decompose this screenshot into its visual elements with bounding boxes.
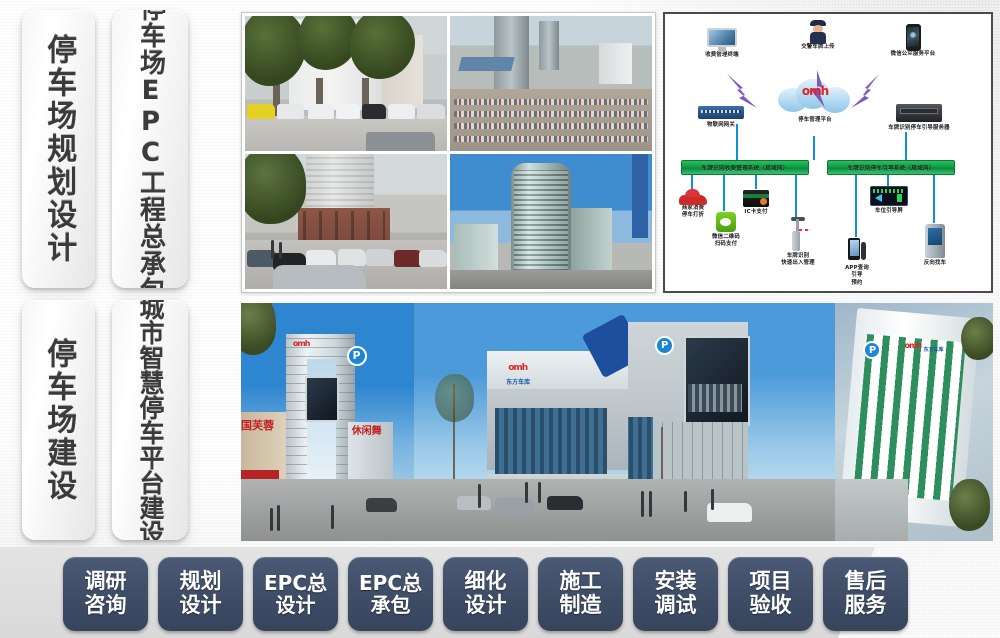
- render-brand-sub: 东方车库: [923, 346, 943, 353]
- process-step-survey-consulting[interactable]: 调研 咨询: [63, 557, 148, 631]
- step-label: 售后 服务: [845, 570, 887, 617]
- link-line: [691, 175, 693, 189]
- link-line: [795, 175, 797, 217]
- link-line: [905, 132, 907, 160]
- slide-root: 停车场规划设计 停车场EPC工程总承包 停车场建设 城市智慧停车平台建设: [0, 0, 1000, 638]
- sidebar-item-label: 停车场建设: [42, 338, 76, 503]
- car-icon: [679, 189, 707, 205]
- step-label: 细化 设计: [465, 570, 507, 617]
- link-line: [755, 175, 757, 189]
- kiosk-icon: [925, 224, 945, 258]
- render-aerial-tower: P omh 东方车库: [835, 303, 993, 541]
- photo-collage: [241, 12, 656, 293]
- render-sign-text: 国芙蓉: [241, 417, 274, 433]
- step-label: 施工 制造: [560, 570, 602, 617]
- render-billboard-facade: P: [628, 303, 835, 541]
- group-header-guide-system: 车牌识别停车引导系统（局域网）: [827, 160, 955, 175]
- rendering-strip: 国芙蓉 omh P 休闲舞 omh 东方车库: [241, 303, 993, 541]
- child-label: 反向找车: [913, 260, 957, 267]
- child-wechat-qr-pay: 微信二维码 扫码支付: [701, 212, 751, 249]
- parking-system-topology-diagram: 收费管理终端 交警车牌上传 微信公众服务平台 物联网网关 omh 停车管理平台: [663, 12, 993, 293]
- photo-brick-building-parking: [245, 154, 447, 289]
- render-sign-text: 休闲舞: [352, 422, 382, 437]
- link-line: [736, 124, 738, 160]
- sidebar-item-parking-lot-construction[interactable]: 停车场建设: [22, 300, 95, 540]
- child-label: APP查询 引导 预约: [835, 265, 879, 287]
- step-label: 安装 调试: [655, 570, 697, 617]
- process-steps: 调研 咨询 规划 设计 EPC总 设计 EPC总 承包 细化 设计 施工 制造 …: [63, 557, 908, 631]
- sidebar-item-parking-lot-epc-contracting[interactable]: 停车场EPC工程总承包: [112, 10, 188, 288]
- sidebar-item-label: 城市智慧停车平台建设: [136, 300, 164, 540]
- group-header-fee-system: 车牌识别收费管理系统（局域网）: [681, 160, 809, 175]
- app-phone-icon: [848, 238, 866, 264]
- sidebar-item-label: 停车场EPC工程总承包: [135, 10, 164, 288]
- sidebar-item-label: 停车场规划设计: [42, 34, 76, 265]
- gate-icon: [785, 217, 811, 251]
- step-label: EPC总 承包: [359, 572, 422, 617]
- link-line: [933, 175, 935, 223]
- step-label: 项目 验收: [750, 570, 792, 617]
- child-find-car: 反向找车: [913, 224, 957, 267]
- cloud-brand-label: omh: [802, 84, 828, 98]
- parking-badge: P: [347, 346, 367, 366]
- render-brand-logo: omh: [293, 339, 310, 348]
- process-step-planning-design[interactable]: 规划 设计: [158, 557, 243, 631]
- child-app-booking: APP查询 引导 预约: [835, 238, 879, 287]
- link-line: [813, 136, 815, 160]
- process-step-epc-contracting[interactable]: EPC总 承包: [348, 557, 433, 631]
- render-brand-logo: omh: [905, 341, 922, 350]
- step-label: 调研 咨询: [85, 570, 127, 617]
- link-line: [855, 175, 857, 237]
- process-step-detailed-design[interactable]: 细化 设计: [443, 557, 528, 631]
- child-guide-screen: 车位引导屏: [867, 186, 911, 215]
- sidebar-item-parking-lot-planning-design[interactable]: 停车场规划设计: [22, 10, 95, 288]
- photo-street-parking-lot: [245, 16, 447, 151]
- link-line: [723, 175, 725, 211]
- process-step-construction-manufacturing[interactable]: 施工 制造: [538, 557, 623, 631]
- child-lpr-gate: 车牌识别 快速出入管理: [773, 217, 823, 268]
- render-tower-garage-left: 国芙蓉 omh P 休闲舞: [241, 303, 414, 541]
- render-garage-building: omh 东方车库: [414, 303, 628, 541]
- process-step-epc-overall-design[interactable]: EPC总 设计: [253, 557, 338, 631]
- render-brand-sub: 东方车库: [506, 377, 530, 386]
- wechat-icon: [716, 212, 736, 232]
- photo-aerial-city-parking: [450, 16, 652, 151]
- step-label: EPC总 设计: [264, 572, 327, 617]
- process-step-project-acceptance[interactable]: 项目 验收: [728, 557, 813, 631]
- process-step-after-sales[interactable]: 售后 服务: [823, 557, 908, 631]
- child-label: 微信二维码 扫码支付: [701, 234, 751, 249]
- sidebar-item-smart-city-parking-platform[interactable]: 城市智慧停车平台建设: [112, 300, 188, 540]
- child-label: 车牌识别 快速出入管理: [773, 253, 823, 268]
- process-step-install-debug[interactable]: 安装 调试: [633, 557, 718, 631]
- render-brand-logo: omh: [508, 363, 527, 373]
- child-label: 车位引导屏: [867, 208, 911, 215]
- card-icon: [743, 190, 769, 207]
- led-screen-icon: [870, 186, 908, 206]
- photo-glass-tower: [450, 154, 652, 289]
- step-label: 规划 设计: [180, 570, 222, 617]
